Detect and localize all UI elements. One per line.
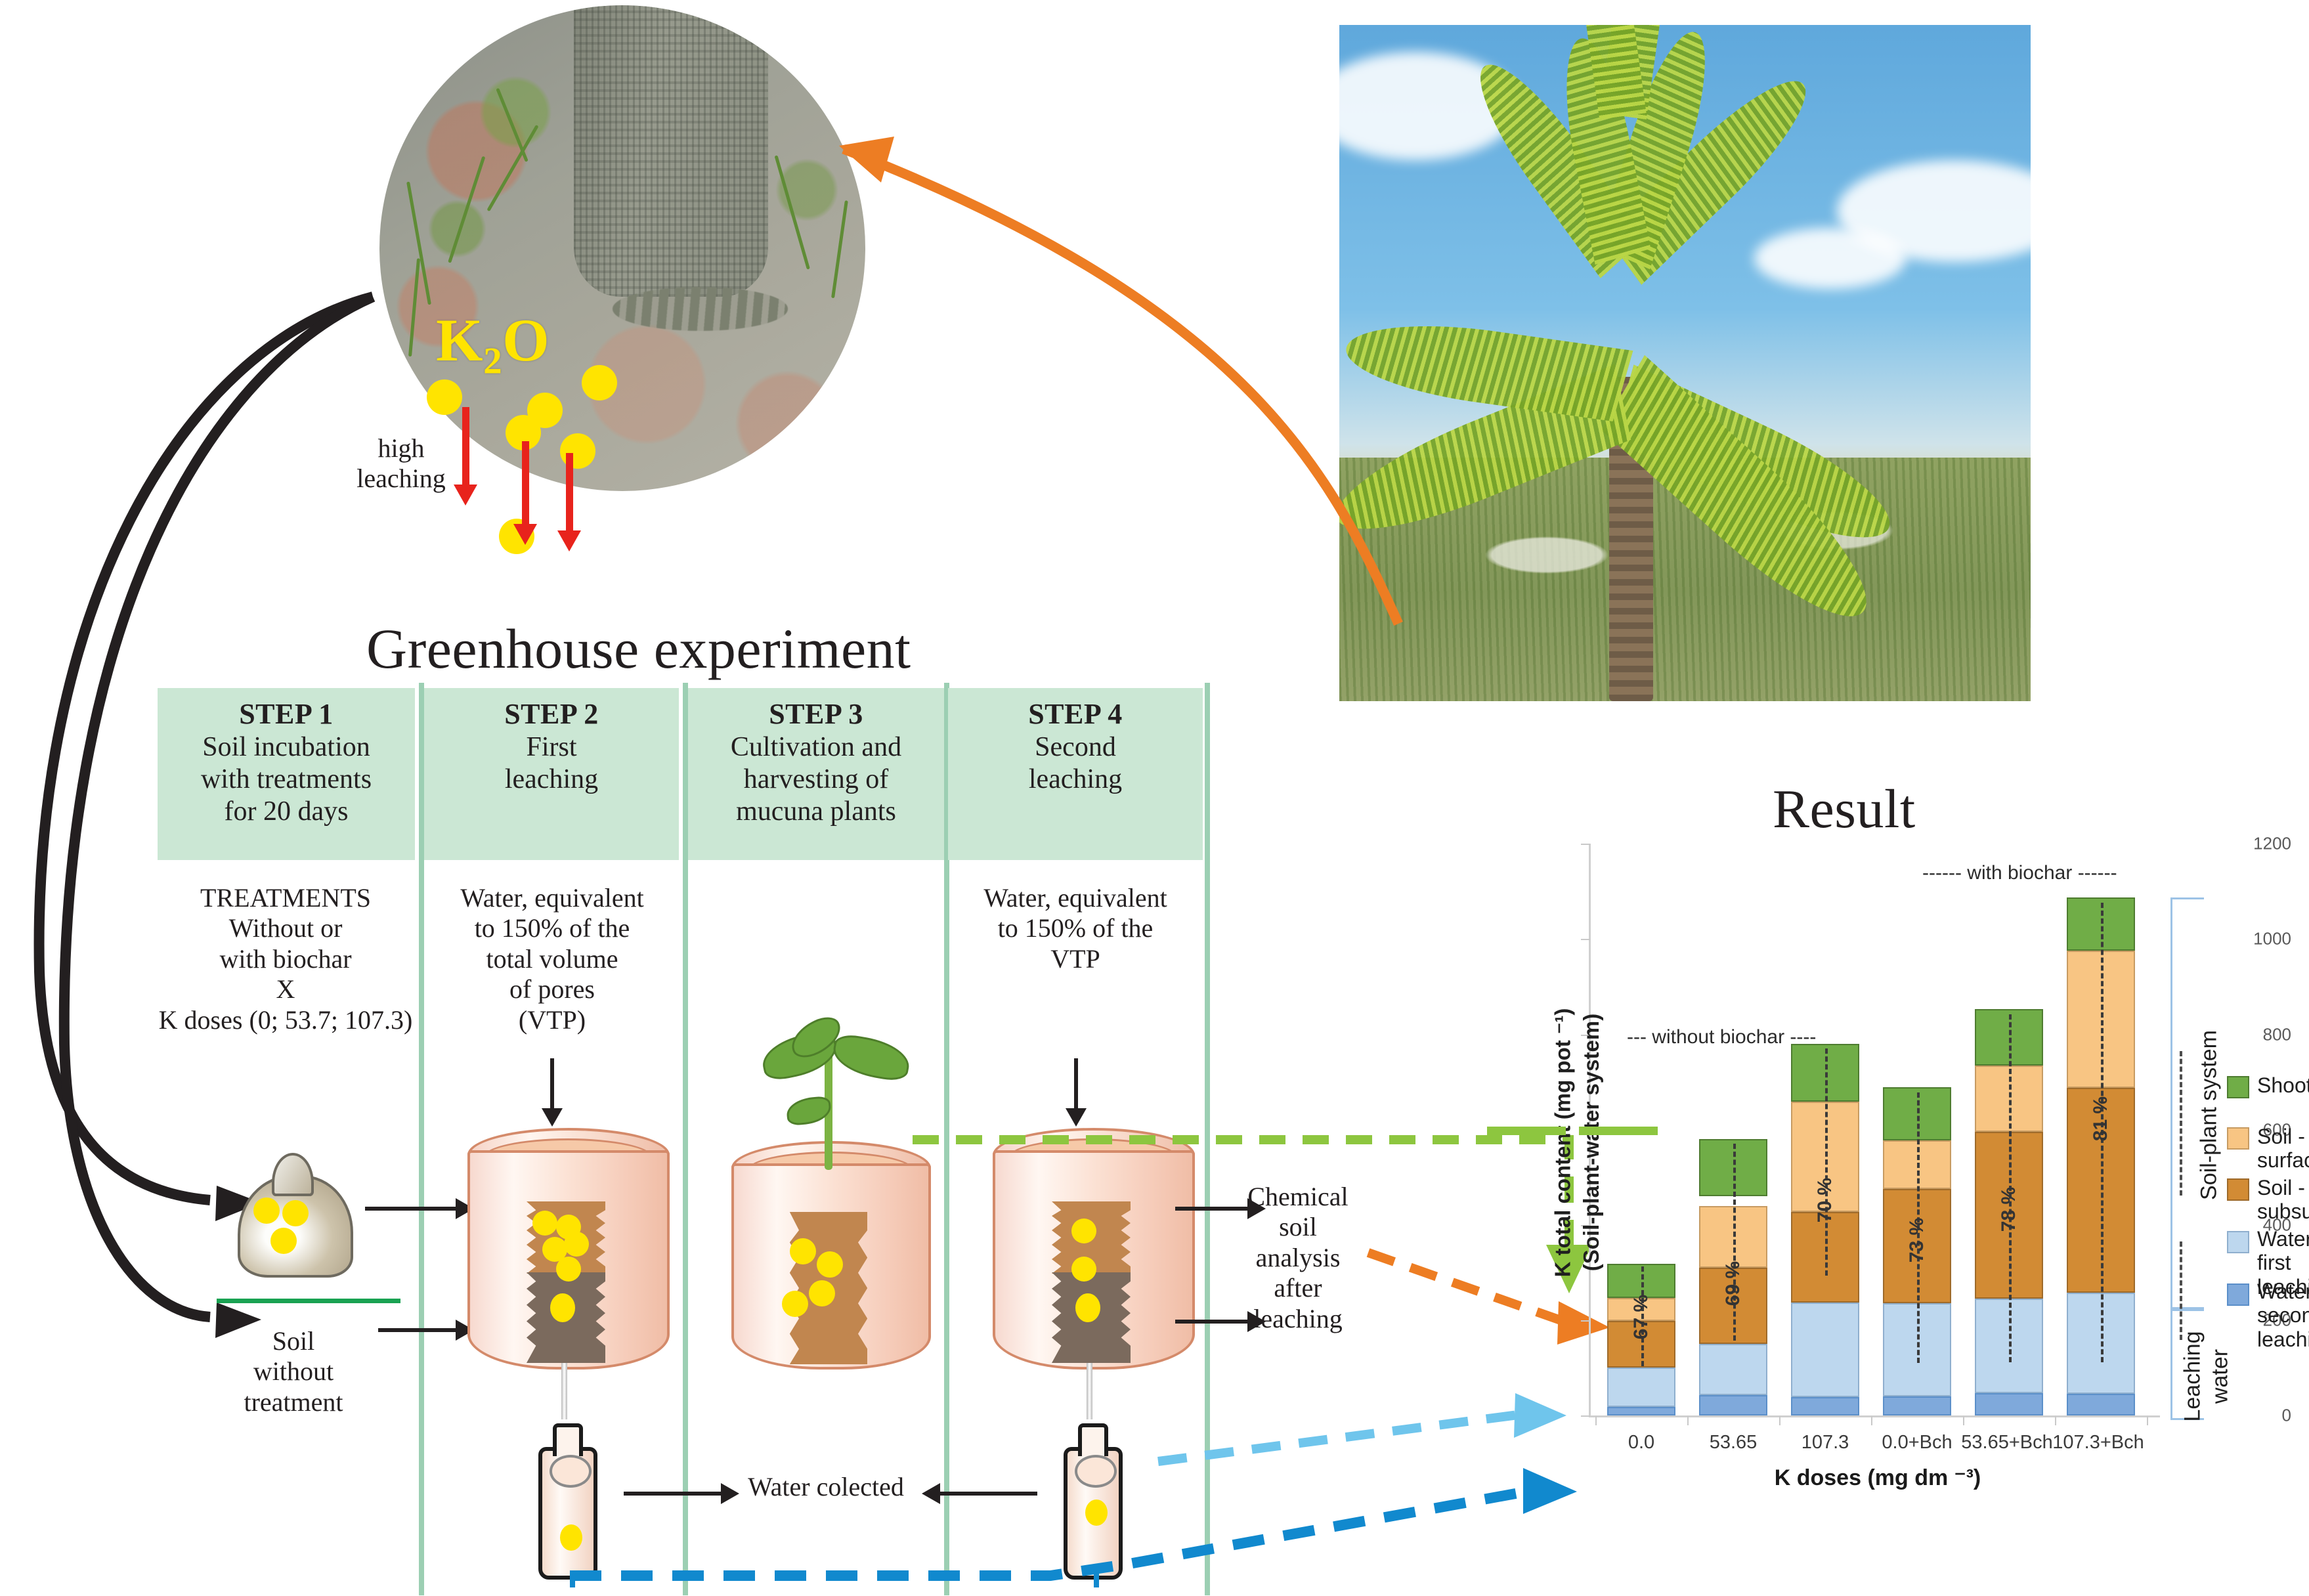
bracket-dash-top [2180,1051,2182,1196]
x-label-0: 0.0 [1628,1432,1654,1454]
bracket-dash-bottom [2180,1241,2182,1340]
seg-water-first [1791,1303,1859,1397]
column-divider [419,683,424,1595]
x-label-2: 107.3 [1802,1432,1849,1454]
group-label-with-biochar: ------ with biochar ------ [1922,862,2117,884]
pot-step-2 [467,1128,664,1364]
arrow-water-step2 [550,1058,554,1110]
legend-swatch-soil-surface [2227,1127,2249,1150]
result-title: Result [1773,777,1916,841]
legend-swatch-water-second [2227,1283,2249,1306]
seg-water-second [1883,1396,1951,1415]
seg-water-first [1607,1368,1675,1407]
coconut-palm-photo [1339,25,2031,701]
blue-route-stub [1094,1573,1099,1587]
y-tick-1200: 1200 [2227,834,2291,854]
y-tick-800: 800 [2227,1025,2291,1045]
x-label-1: 53.65 [1710,1432,1758,1454]
step-3-box: STEP 3 Cultivation and harvesting of muc… [688,688,944,860]
legend-label-water-second: Water - second leaching [2257,1280,2309,1351]
y-axis-subtitle: (Soil-plant-water system) [1579,932,1604,1352]
step-4-box: STEP 4 Second leaching [948,688,1203,860]
legend-label-soil-subsurface: Soil - subsurface [2257,1176,2309,1224]
x-label-3: 0.0+Bch [1882,1432,1952,1454]
mucuna-leaf [830,1032,913,1083]
treatment-bag-icon [231,1157,356,1275]
bracket-label-leaching: Leaching [2180,1305,2206,1449]
legend-swatch-water-first [2227,1231,2249,1253]
bracket-label-water: water [2208,1305,2233,1449]
seg-water-first [1699,1344,1767,1395]
y-axis-title: K total content (mg pot ⁻¹) [1550,933,1576,1353]
x-axis [1589,1415,2160,1417]
green-600-marker [1579,1127,1658,1135]
step-2-box: STEP 2 First leaching [424,688,679,860]
soil-without-treatment-label: Soil without treatment [225,1326,362,1417]
x-label-5: 107.3+Bch [2052,1432,2144,1454]
green-600-marker [1487,1127,1566,1135]
bar-0.0+Bch: 73 % [1883,1087,1951,1415]
bar-0.0: 67 % [1607,1264,1675,1415]
bar-53.65: 69 % [1699,1196,1767,1415]
step-3-heading: STEP 3 Cultivation and harvesting of muc… [688,688,944,829]
bracket-label-soil-plant-system: Soil-plant system [2197,978,2222,1253]
step-1-box: STEP 1 Soil incubation with treatments f… [158,688,415,860]
bar-annotation-2: 70 % [1814,1162,1836,1238]
y-tick-1000: 1000 [2227,929,2291,949]
y-tick-0: 0 [2227,1406,2291,1426]
legend-swatch-shoot [2227,1076,2249,1098]
bar-107.3+Bch: 81 % [2067,897,2135,1415]
bar-annotation-3: 73 % [1906,1202,1928,1278]
seg-water-second [1791,1397,1859,1415]
k-content-chart: 1200 1000 800 600 400 200 0 K total cont… [1510,844,2291,1454]
soil-divider-line [217,1299,400,1303]
arrow-water-step4 [1074,1058,1078,1110]
leaching-arrow-icon [566,453,573,532]
step-4-body: Water, equivalent to 150% of the VTP [951,883,1200,974]
step-4-heading: STEP 4 Second leaching [948,688,1203,796]
bar-annotation-1: 69 % [1722,1245,1744,1322]
blue-dashed-connector-icon [538,1412,1615,1589]
arrow-soil-to-pot [378,1328,457,1332]
bar-107.3: 70 % [1791,1130,1859,1415]
step-2-heading: STEP 2 First leaching [424,688,679,796]
bar-annotation-0: 67 % [1630,1279,1652,1355]
x-axis-title: K doses (mg dm ⁻³) [1727,1465,2029,1491]
bar-annotation-5: 81 % [2090,1081,2112,1157]
pot-step-3 [731,1141,926,1364]
step-1-body: TREATMENTS Without or with biochar X K d… [138,883,433,1035]
bar-annotation-4: 78 % [1998,1171,2020,1247]
seg-water-second [1607,1407,1675,1415]
step-1-heading: STEP 1 Soil incubation with treatments f… [158,688,415,829]
step-2-body: Water, equivalent to 150% of the total v… [428,883,676,1035]
seg-water-second [1975,1393,2043,1415]
seg-water-second [1699,1395,1767,1415]
group-label-without-biochar: --- without biochar ---- [1627,1026,1816,1048]
seg-water-second [2067,1394,2135,1415]
palm-trunk [574,5,768,297]
k-dot [582,365,617,400]
legend-label-soil-surface: Soil - surface [2257,1125,2309,1173]
bar-53.65+Bch: 78 % [1975,1009,2043,1415]
legend-swatch-soil-subsurface [2227,1178,2249,1201]
greenhouse-title: Greenhouse experiment [366,616,911,681]
x-label-4: 53.65+Bch [1961,1432,2052,1454]
blue-route-stub [570,1573,575,1587]
legend-label-shoot: Shoot [2257,1073,2309,1097]
orange-curved-arrow-icon [755,112,1412,676]
arrow-bag-to-pot [365,1207,457,1211]
